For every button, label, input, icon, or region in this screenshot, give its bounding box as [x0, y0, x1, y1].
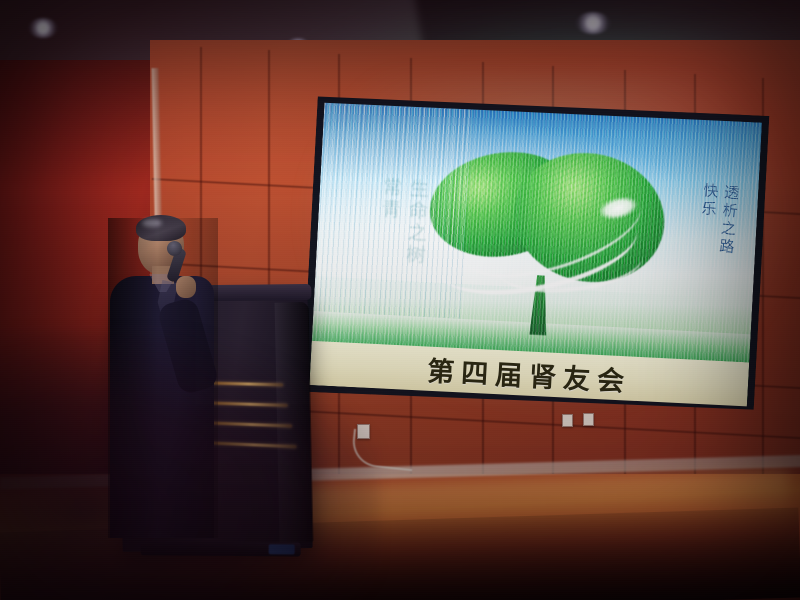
calligraphy-right-text: 透析之路 快乐: [694, 182, 742, 257]
calligraphy-left-text: 生命之树 常青: [373, 177, 432, 268]
wall-outlet-2[interactable]: [562, 414, 573, 427]
wall-outlet-3[interactable]: [583, 413, 594, 426]
corner-shadow: [0, 330, 380, 600]
ceiling-downlight-5: [575, 12, 611, 34]
ceiling-downlight-1: [28, 18, 58, 38]
heart-tree-graphic: [422, 145, 668, 335]
event-title: 第四届肾友会: [426, 349, 632, 399]
photo-scene: 生命之树 常青 透析之路 快乐 第四届肾友会: [0, 0, 800, 600]
